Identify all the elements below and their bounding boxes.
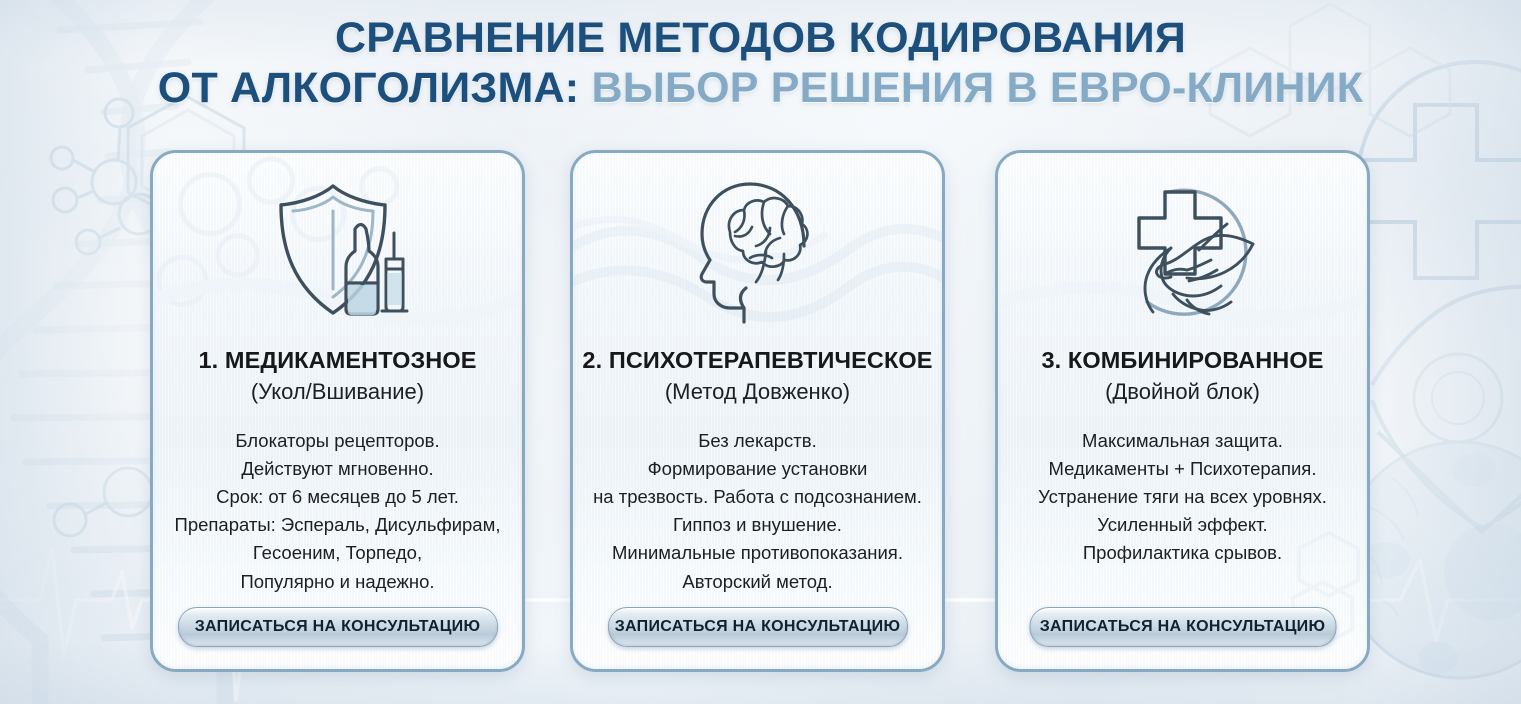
card-1-line-1: Блокаторы рецепторов.: [175, 427, 501, 455]
shield-hand-watermark: [1358, 62, 1521, 532]
card-1-line-6: Популярно и надежно.: [175, 568, 501, 596]
method-card-combined[interactable]: 3. КОМБИНИРОВАННОЕ (Двойной блок) Максим…: [995, 150, 1370, 672]
title-line-2-light: ВЫБОР РЕШЕНИЯ В ЕВРО-КЛИНИК: [591, 64, 1363, 112]
head-brain-icon: [573, 153, 942, 349]
card-2-line-5: Минимальные противопоказания.: [593, 539, 922, 567]
card-3-title: 3. КОМБИНИРОВАННОЕ: [1041, 347, 1323, 374]
card-3-line-2: Медикаменты + Психотерапия.: [1038, 455, 1327, 483]
card-3-body: Максимальная защита. Медикаменты + Психо…: [1038, 427, 1327, 568]
card-2-line-3: на трезвость. Работа с подсознанием.: [593, 483, 922, 511]
card-2-line-2: Формирование установки: [593, 455, 922, 483]
title-line-2: ОТ АЛКОГОЛИЗМА: ВЫБОР РЕШЕНИЯ В ЕВРО-КЛИ…: [0, 64, 1521, 112]
card-2-title: 2. ПСИХОТЕРАПЕВТИЧЕСКОЕ: [582, 347, 932, 374]
card-1-line-5: Гесоеним, Торпедо,: [175, 539, 501, 567]
title-line-1: СРАВНЕНИЕ МЕТОДОВ КОДИРОВАНИЯ: [0, 14, 1521, 62]
card-2-line-6: Авторский метод.: [593, 568, 922, 596]
shield-ampoule-syringe-icon: [153, 153, 522, 349]
method-card-medication[interactable]: 1. МЕДИКАМЕНТОЗНОЕ (Укол/Вшивание) Блока…: [150, 150, 525, 672]
page-title: СРАВНЕНИЕ МЕТОДОВ КОДИРОВАНИЯ ОТ АЛКОГОЛ…: [0, 14, 1521, 112]
method-card-psychotherapy[interactable]: 2. ПСИХОТЕРАПЕВТИЧЕСКОЕ (Метод Довженко)…: [570, 150, 945, 672]
card-3-cta-button[interactable]: ЗАПИСАТЬСЯ НА КОНСУЛЬТАЦИЮ: [1029, 607, 1336, 647]
card-2-subtitle: (Метод Довженко): [665, 379, 850, 405]
card-1-subtitle: (Укол/Вшивание): [251, 379, 424, 405]
card-2-cta-button[interactable]: ЗАПИСАТЬСЯ НА КОНСУЛЬТАЦИЮ: [608, 607, 908, 647]
title-line-2-dark: ОТ АЛКОГОЛИЗМА:: [158, 64, 580, 112]
card-1-cta-button[interactable]: ЗАПИСАТЬСЯ НА КОНСУЛЬТАЦИЮ: [178, 607, 498, 647]
card-2-body: Без лекарств. Формирование установки на …: [593, 427, 922, 596]
card-2-line-1: Без лекарств.: [593, 427, 922, 455]
card-3-subtitle: (Двойной блок): [1105, 379, 1260, 405]
card-2-line-4: Гиппоз и внушение.: [593, 511, 922, 539]
card-3-line-5: Профилактика срывов.: [1038, 539, 1327, 567]
card-3-line-1: Максимальная защита.: [1038, 427, 1327, 455]
cross-helping-hands-icon: [998, 153, 1367, 349]
card-1-line-2: Действуют мгновенно.: [175, 455, 501, 483]
infographic-canvas: СРАВНЕНИЕ МЕТОДОВ КОДИРОВАНИЯ ОТ АЛКОГОЛ…: [0, 0, 1521, 704]
card-1-line-3: Срок: от 6 месяцев до 5 лет.: [175, 483, 501, 511]
medical-cross-watermark: [1359, 105, 1521, 278]
card-3-line-3: Устранение тяги на всех уровнях.: [1038, 483, 1327, 511]
card-3-line-4: Усиленный эффект.: [1038, 511, 1327, 539]
card-1-line-4: Препараты: Эспераль, Дисульфирам,: [175, 511, 501, 539]
card-1-title: 1. МЕДИКАМЕНТОЗНОЕ: [198, 347, 476, 374]
card-1-body: Блокаторы рецепторов. Действуют мгновенн…: [175, 427, 501, 596]
